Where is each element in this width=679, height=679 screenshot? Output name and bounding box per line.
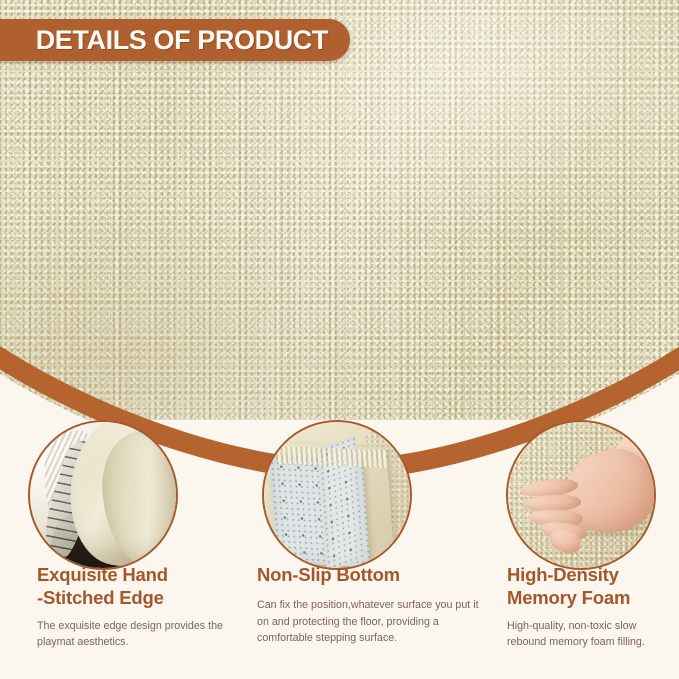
feature-title-line-2: Memory Foam — [507, 587, 630, 608]
stitched-edge-photo — [30, 422, 176, 568]
feature-text-row: Exquisite Hand -Stitched Edge The exquis… — [0, 563, 679, 679]
feature-image-stitched-edge — [28, 420, 178, 570]
feature-title-line-1: Exquisite Hand — [37, 564, 168, 585]
hand-pressing-foam-photo — [508, 422, 654, 568]
feature-title-line-1: Non-Slip Bottom — [257, 564, 400, 585]
feature-title-non-slip-bottom: Non-Slip Bottom — [257, 563, 487, 586]
feature-title-line-2: -Stitched Edge — [37, 587, 164, 608]
feature-image-non-slip-bottom — [262, 420, 412, 570]
feature-block-stitched-edge: Exquisite Hand -Stitched Edge The exquis… — [37, 563, 237, 651]
feature-image-memory-foam — [506, 420, 656, 570]
product-details-poster: DETAILS OF PRODUCT — [0, 0, 679, 679]
feature-description-stitched-edge: The exquisite edge design provides the p… — [37, 618, 237, 651]
feature-title-stitched-edge: Exquisite Hand -Stitched Edge — [37, 563, 237, 610]
feature-description-non-slip-bottom: Can fix the position,whatever surface yo… — [257, 597, 487, 647]
page-title: DETAILS OF PRODUCT — [36, 25, 328, 56]
feature-title-line-1: High-Density — [507, 564, 619, 585]
feature-description-memory-foam: High-quality, non-toxic slow rebound mem… — [507, 618, 675, 651]
feature-title-memory-foam: High-Density Memory Foam — [507, 563, 675, 610]
non-slip-bottom-photo — [264, 422, 410, 568]
feature-block-non-slip-bottom: Non-Slip Bottom Can fix the position,wha… — [257, 563, 487, 647]
title-banner: DETAILS OF PRODUCT — [0, 19, 350, 61]
feature-block-memory-foam: High-Density Memory Foam High-quality, n… — [507, 563, 675, 651]
